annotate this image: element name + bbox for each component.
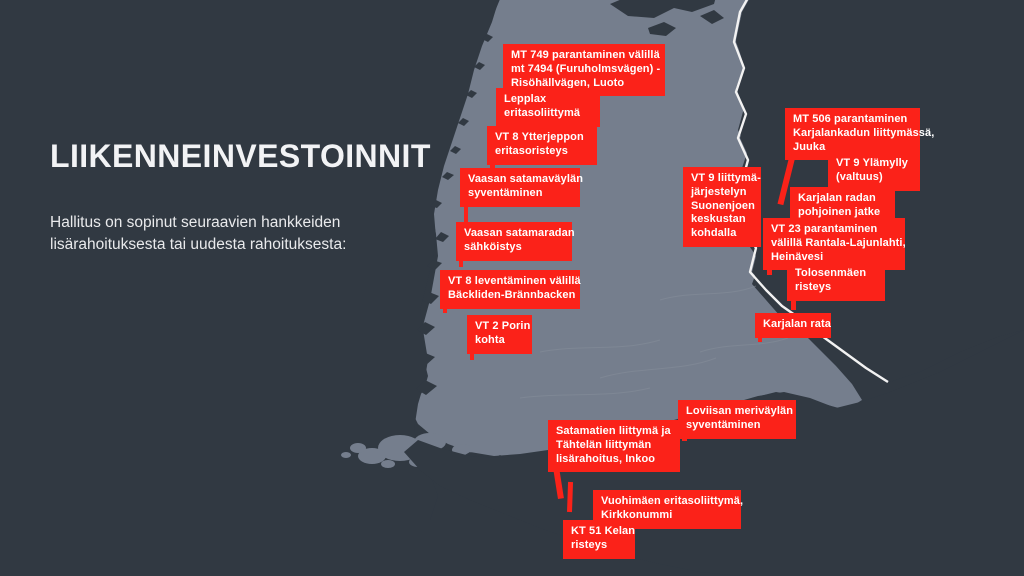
subtitle-text: Hallitus on sopinut seuraavien hankkeide… <box>50 212 410 257</box>
callout-tolosenmaen-risteys[interactable]: Tolosenmäenristeys <box>787 262 885 301</box>
callout-loviisan-merivayla[interactable]: Loviisan meriväylänsyventäminen <box>678 400 796 439</box>
callout-line: lisärahoitus, Inkoo <box>556 453 672 467</box>
callout-line: eritasoristeys <box>495 145 589 159</box>
callout-line: VT 23 parantaminen <box>771 223 897 237</box>
callout-line: Karjalan radan <box>798 192 887 206</box>
callout-line: järjestelyn <box>691 186 753 200</box>
callout-line: MT 749 parantaminen välillä <box>511 49 657 63</box>
callout-line: (valtuus) <box>836 171 912 185</box>
subtitle-line-2: lisärahoituksesta tai uudesta rahoitukse… <box>50 236 346 253</box>
callout-line: MT 506 parantaminen <box>793 113 912 127</box>
callout-pointer-tolosenmaen-risteys <box>791 299 796 310</box>
callout-line: VT 9 Ylämylly <box>836 157 912 171</box>
slide-canvas: LIIKENNEINVESTOINNIT Hallitus on sopinut… <box>0 0 1024 576</box>
callout-line: Suonenjoen <box>691 200 753 214</box>
callout-satamatien-inkoo[interactable]: Satamatien liittymä jaTähtelän liittymän… <box>548 420 680 472</box>
callout-line: Tähtelän liittymän <box>556 439 672 453</box>
callout-vaasan-satamavayla[interactable]: Vaasan satamaväylänsyventäminen <box>460 168 580 207</box>
callout-line: välillä Rantala-Lajunlahti, <box>771 237 897 251</box>
callout-line: Satamatien liittymä ja <box>556 425 672 439</box>
callout-line: VT 8 Ytterjeppon <box>495 131 589 145</box>
callout-vt-8-backliden[interactable]: VT 8 leventäminen välilläBäckliden-Bränn… <box>440 270 580 309</box>
callout-line: Vuohimäen eritasoliittymä, <box>601 495 733 509</box>
callout-line: eritasoliittymä <box>504 107 592 121</box>
callout-line: VT 9 liittymä- <box>691 172 753 186</box>
callout-kt-51-kelan-risteys[interactable]: KT 51 Kelanristeys <box>563 520 635 559</box>
callout-vt-8-ytterjeppo[interactable]: VT 8 Ytterjepponeritasoristeys <box>487 126 597 165</box>
callout-lepplax[interactable]: Lepplaxeritasoliittymä <box>496 88 600 127</box>
callout-line: VT 8 leventäminen välillä <box>448 275 572 289</box>
callout-line: Vaasan satamaradan <box>464 227 564 241</box>
callout-line: Karjalan rata <box>763 318 823 332</box>
callout-line: VT 2 Porin <box>475 320 524 334</box>
page-title: LIIKENNEINVESTOINNIT <box>50 140 410 174</box>
callout-line: Bäckliden-Brännbacken <box>448 289 572 303</box>
callout-line: syventäminen <box>468 187 572 201</box>
callout-line: mt 7494 (Furuholmsvägen) - <box>511 63 657 77</box>
callout-line: Karjalankadun liittymässä, <box>793 127 912 141</box>
callout-line: Tolosenmäen <box>795 267 877 281</box>
callout-line: KT 51 Kelan <box>571 525 627 539</box>
callout-line: kohta <box>475 334 524 348</box>
callout-line: kohdalla <box>691 227 753 241</box>
callout-pointer-kt-51-kelan-risteys <box>567 482 573 512</box>
callout-line: Lepplax <box>504 93 592 107</box>
callout-vaasan-satamarata[interactable]: Vaasan satamaradansähköistys <box>456 222 572 261</box>
callout-line: Vaasan satamaväylän <box>468 173 572 187</box>
callout-line: sähköistys <box>464 241 564 255</box>
callout-vt-9-ylamylly[interactable]: VT 9 Ylämylly(valtuus) <box>828 152 920 191</box>
callout-line: risteys <box>795 281 877 295</box>
callout-line: keskustan <box>691 213 753 227</box>
callout-vt-2-pori[interactable]: VT 2 Porinkohta <box>467 315 532 354</box>
title-block: LIIKENNEINVESTOINNIT Hallitus on sopinut… <box>50 140 410 257</box>
callout-line: risteys <box>571 539 627 553</box>
callout-line: Loviisan meriväylän <box>686 405 788 419</box>
callout-karjalan-rata[interactable]: Karjalan rata <box>755 313 831 338</box>
callout-line: syventäminen <box>686 419 788 433</box>
subtitle-line-1: Hallitus on sopinut seuraavien hankkeide… <box>50 214 340 231</box>
callout-vt-9-suonenjoki[interactable]: VT 9 liittymä-järjestelynSuonenjoenkesku… <box>683 167 761 247</box>
